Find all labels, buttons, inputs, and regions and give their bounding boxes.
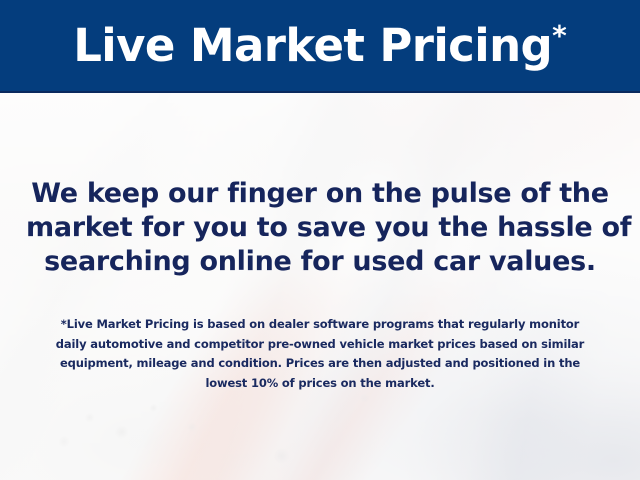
fineprint-line-1: *Live Market Pricing is based on dealer … — [24, 315, 616, 335]
fineprint-disclaimer: *Live Market Pricing is based on dealer … — [0, 315, 640, 393]
page-title-text: Live Market Pricing — [73, 19, 552, 72]
fineprint-line-2: daily automotive and competitor pre-owne… — [24, 335, 616, 355]
content-area: We keep our finger on the pulse of the m… — [0, 93, 640, 480]
page-title-asterisk: * — [552, 19, 567, 52]
headline-line-3: searching online for used car values. — [26, 245, 614, 279]
fineprint-line-4: lowest 10% of prices on the market. — [24, 374, 616, 394]
live-market-pricing-banner: Live Market Pricing* We keep our finger … — [0, 0, 640, 480]
headline-text: We keep our finger on the pulse of the m… — [0, 177, 640, 279]
fineprint-line-3: equipment, mileage and condition. Prices… — [24, 354, 616, 374]
headline-line-2: market for you to save you the hassle of — [26, 211, 614, 245]
page-title: Live Market Pricing* — [73, 23, 567, 68]
header-band: Live Market Pricing* — [0, 0, 640, 93]
headline-line-1: We keep our finger on the pulse of the — [26, 177, 614, 211]
